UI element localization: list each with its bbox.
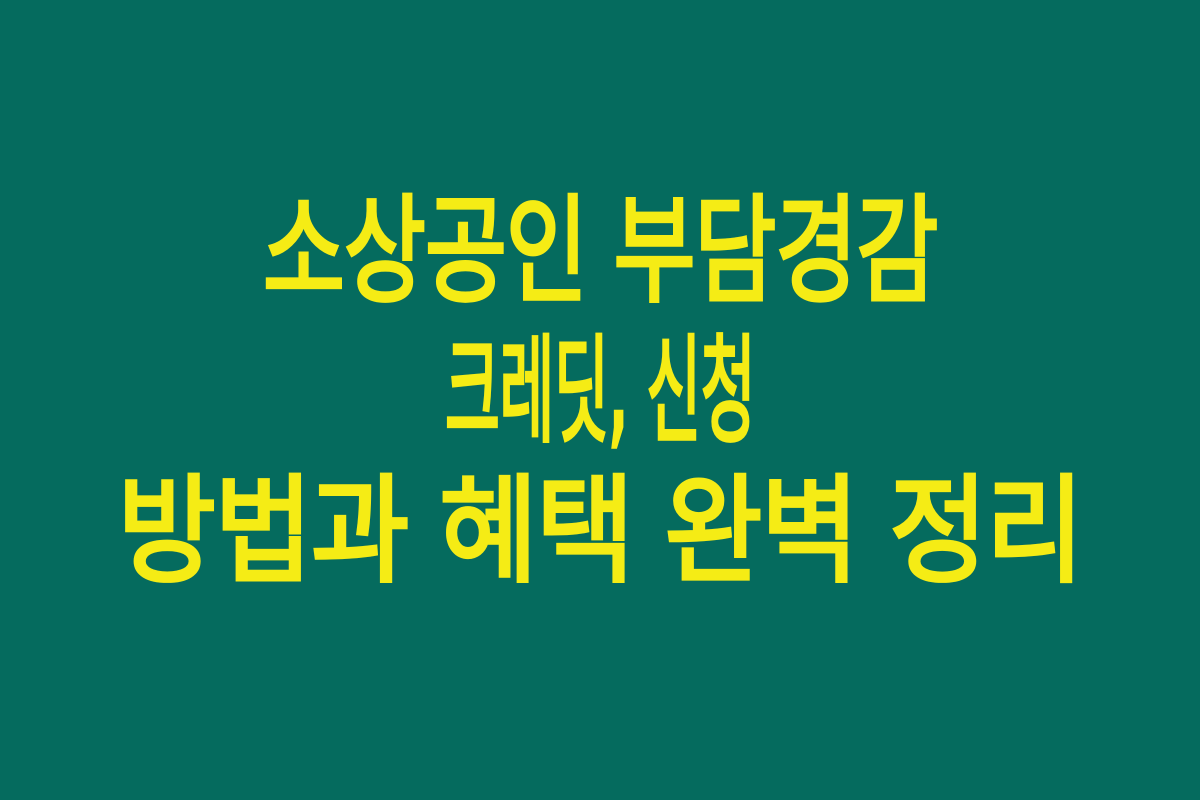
- headline-line-1: 소상공인 부담경감: [145, 192, 1055, 310]
- headline-block: 소상공인 부담경감 크레딧, 신청 방법과 혜택 완벽 정리: [0, 192, 1200, 590]
- headline-line-3: 방법과 혜택 완벽 정리: [55, 472, 1145, 590]
- thumbnail-banner: 소상공인 부담경감 크레딧, 신청 방법과 혜택 완벽 정리: [0, 0, 1200, 800]
- headline-line-2: 크레딧, 신청: [295, 332, 905, 450]
